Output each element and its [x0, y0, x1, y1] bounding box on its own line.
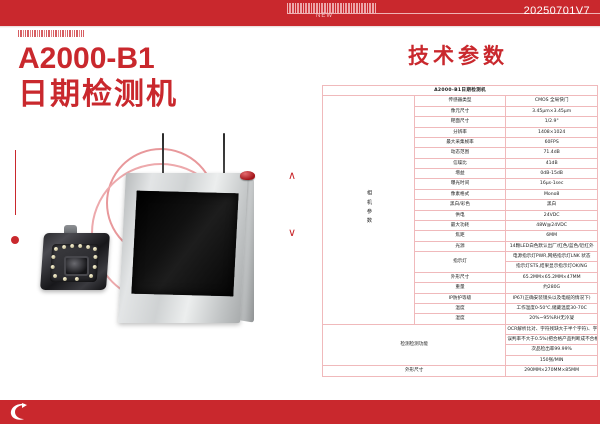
- spec-group-label: 相机参数: [323, 96, 415, 324]
- spec-row-label: 动态范围: [414, 148, 506, 158]
- spec-row-value: 20%~95%RH无冷凝: [506, 314, 598, 324]
- spec-row-value: 48W@24VDC: [506, 220, 598, 230]
- table-row: 相机参数传感器类型CMOS 全局快门: [323, 96, 598, 106]
- red-indicator-light: [240, 171, 255, 180]
- spec-row-label: 黑白/彩色: [414, 200, 506, 210]
- spec-row-value: 6MM: [506, 231, 598, 241]
- spec-row-label: 最大功耗: [414, 220, 506, 230]
- spec-row-label: 传感器类型: [414, 96, 506, 106]
- product-name-title: 日期检测机: [18, 78, 178, 112]
- spec-row-value: 指示灯STS,结果显示指示灯OK/NG: [506, 262, 598, 272]
- detect-group-label: 检测检测功能: [323, 324, 506, 366]
- spec-row-value: 约280G: [506, 283, 598, 293]
- spec-row-label: 信噪比: [414, 158, 506, 168]
- spec-row-label: 重量: [414, 283, 506, 293]
- spec-row-label: 焦距: [414, 231, 506, 241]
- monitor-screen: [131, 191, 238, 297]
- spec-row-value: 41dB: [506, 158, 598, 168]
- detect-row-value: 误判率不大于0.5%(把合格产品判断成不合格品): [506, 335, 598, 345]
- spec-row-value: 工作温度0-50℃,储藏温度30-70C: [506, 303, 598, 313]
- spec-table: A2000-B1日期检测机 相机参数传感器类型CMOS 全局快门像元尺寸3.45…: [322, 85, 598, 377]
- spec-row-label: 像素格式: [414, 189, 506, 199]
- table-row: 检测检测功能OCR解析比对、字符残缺大于半个字符)、字符有无检测: [323, 324, 598, 334]
- spec-row-value: Mono8: [506, 189, 598, 199]
- antenna-right-icon: [223, 133, 225, 177]
- spec-row-value: 16μs-1sec: [506, 179, 598, 189]
- spec-row-value: 60FPS: [506, 137, 598, 147]
- spec-row-label: 外形尺寸: [414, 272, 506, 282]
- detect-row-value: 次品检出率99.99%: [506, 345, 598, 355]
- spec-row-label: 湿度: [414, 314, 506, 324]
- footer-bar: [0, 400, 600, 424]
- spec-row-value: 1408×1024: [506, 127, 598, 137]
- smart-camera-image: [42, 225, 112, 290]
- spec-row-value: 65.2MM×65.2MM×47MM: [506, 272, 598, 282]
- spec-row-label: 指示灯: [414, 252, 506, 273]
- spec-table-title: A2000-B1日期检测机: [323, 86, 598, 96]
- version-label: 20250701V7: [524, 5, 590, 17]
- spec-row-value: 电源指示灯PWR,网络指示灯LNK 状态: [506, 252, 598, 262]
- monitor-unit-image: [122, 173, 260, 323]
- product-model-title: A2000-B1: [18, 42, 155, 76]
- detect-row-value: OCR解析比对、字符残缺大于半个字符)、字符有无检测: [506, 324, 598, 334]
- spec-row-label: 分辨率: [414, 127, 506, 137]
- spec-row-value: 14颗LED白色默认出厂/红色/蓝色/近红外: [506, 241, 598, 251]
- spec-row-label: 像元尺寸: [414, 106, 506, 116]
- spec-row-label: 增益: [414, 169, 506, 179]
- table-header-row: A2000-B1日期检测机: [323, 86, 598, 96]
- slide-page: NEW 20250701V7 A2000-B1 日期检测机 ∧ ∨: [0, 0, 600, 424]
- spec-group-label-text: 相机参数: [365, 190, 372, 227]
- spec-row-label: 曝光时间: [414, 179, 506, 189]
- table-row: 外形尺寸290MM×270MM×85MM: [323, 366, 598, 376]
- top-header-bar: NEW 20250701V7: [0, 0, 600, 26]
- brand-logo-icon: [8, 402, 30, 422]
- product-photo: [20, 135, 305, 370]
- decor-barcode-icon: [18, 30, 84, 37]
- decor-dot: [11, 236, 19, 244]
- spec-row-label: 温度: [414, 303, 506, 313]
- camera-lens: [64, 256, 89, 276]
- spec-row-value: 0dB-15dB: [506, 169, 598, 179]
- footer-row-value: 290MM×270MM×85MM: [506, 366, 598, 376]
- decor-vertical-line: [15, 150, 16, 215]
- spec-row-value: 3.45μm×3.45μm: [506, 106, 598, 116]
- detect-row-value: 150张/MIN: [506, 355, 598, 365]
- page-title: 技术参数: [408, 40, 508, 70]
- spec-row-label: 供电: [414, 210, 506, 220]
- spec-row-label: 最大采集帧率: [414, 137, 506, 147]
- spec-row-value: 黑白: [506, 200, 598, 210]
- spec-row-value: 71.4dB: [506, 148, 598, 158]
- new-badge: NEW: [316, 13, 333, 19]
- spec-row-value: CMOS 全局快门: [506, 96, 598, 106]
- spec-row-label: 靶面尺寸: [414, 117, 506, 127]
- footer-row-label: 外形尺寸: [323, 366, 506, 376]
- header-shadow: [0, 26, 600, 28]
- barcode-icon: [287, 3, 377, 13]
- spec-row-label: 光源: [414, 241, 506, 251]
- spec-row-value: IP67(正确安装镜头以及电缆的情况下): [506, 293, 598, 303]
- spec-row-label: IP防护等级: [414, 293, 506, 303]
- spec-row-value: 24VDC: [506, 210, 598, 220]
- spec-row-value: 1/2.9": [506, 117, 598, 127]
